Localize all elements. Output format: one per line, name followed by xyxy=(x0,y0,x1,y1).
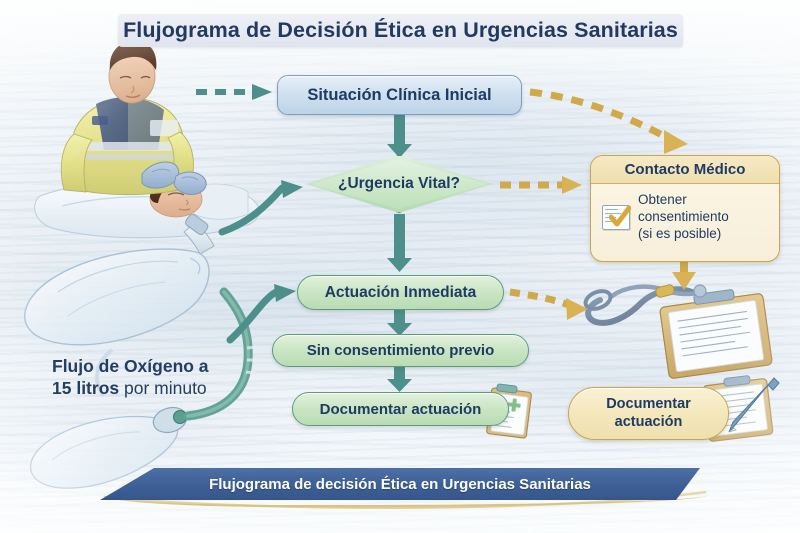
oxygen-caption-line-1: Flujo de Oxígeno a xyxy=(52,355,267,377)
title-banner: Flujograma de Decisión Ética en Urgencia… xyxy=(118,14,683,47)
page-title: Flujograma de Decisión Ética en Urgencia… xyxy=(123,18,678,43)
oxygen-caption-unit: por minuto xyxy=(119,378,207,398)
oxygen-caption-line-2: 15 litros por minuto xyxy=(52,377,267,399)
node-initial-situation[interactable]: Situación Clínica Inicial xyxy=(277,75,522,115)
document-card-line-2: actuación xyxy=(606,414,691,431)
oxygen-flow-caption: Flujo de Oxígeno a 15 litros por minuto xyxy=(52,355,267,399)
footer-text: Flujograma de decisión Ética en Urgencia… xyxy=(209,476,591,493)
card-medical-contact[interactable]: Contacto Médico Obtener consentimiento (… xyxy=(590,155,780,262)
card-document-action[interactable]: Documentar actuación xyxy=(568,387,729,440)
oxygen-caption-value: 15 litros xyxy=(52,378,119,398)
footer-banner: Flujograma de decisión Ética en Urgencia… xyxy=(100,468,700,500)
node-document-action-label: Documentar actuación xyxy=(320,401,482,418)
consent-checklist-icon xyxy=(601,204,631,230)
node-vital-urgency-label: ¿Urgencia Vital? xyxy=(338,175,460,193)
card-document-action-label: Documentar actuación xyxy=(606,396,691,431)
checkmark-icon xyxy=(609,206,631,228)
node-vital-urgency-decision[interactable]: ¿Urgencia Vital? xyxy=(306,155,492,213)
node-without-prior-consent[interactable]: Sin consentimiento previo xyxy=(272,334,529,367)
infographic-canvas: Flujograma de Decisión Ética en Urgencia… xyxy=(0,0,800,533)
card-medical-contact-body: Obtener consentimiento (si es posible) xyxy=(591,184,779,242)
contact-line-3: (si es posible) xyxy=(638,225,729,242)
node-without-prior-consent-label: Sin consentimiento previo xyxy=(307,342,495,359)
contact-line-1: Obtener xyxy=(638,191,729,208)
node-immediate-action[interactable]: Actuación Inmediata xyxy=(297,275,504,310)
footer-ribbon: Flujograma de decisión Ética en Urgencia… xyxy=(100,468,700,500)
node-immediate-action-label: Actuación Inmediata xyxy=(325,284,477,302)
node-initial-situation-label: Situación Clínica Inicial xyxy=(307,86,491,105)
card-medical-contact-text: Obtener consentimiento (si es posible) xyxy=(638,191,729,242)
node-document-action[interactable]: Documentar actuación xyxy=(292,392,509,426)
contact-line-2: consentimiento xyxy=(638,208,729,225)
document-card-line-1: Documentar xyxy=(606,396,691,413)
card-medical-contact-header: Contacto Médico xyxy=(591,156,779,184)
